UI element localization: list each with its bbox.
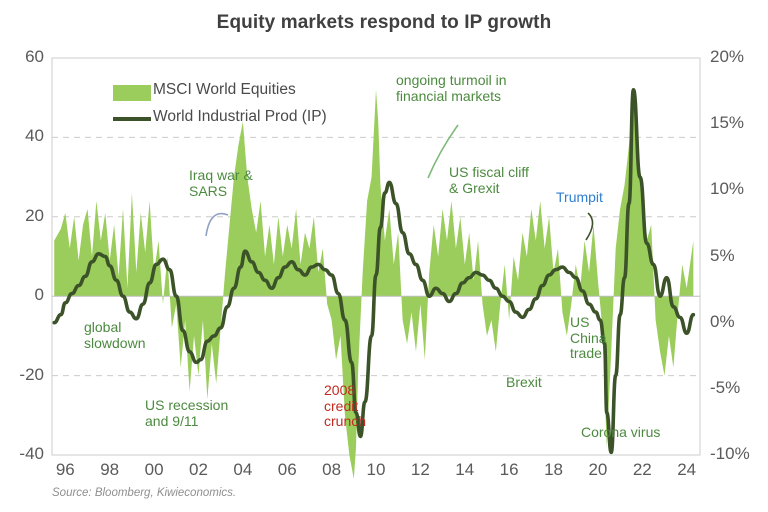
- y-axis-left-tick: -40: [0, 444, 44, 464]
- annotation-line: US: [570, 315, 607, 331]
- x-axis-tick: 02: [178, 460, 218, 480]
- annotation-line: US recession: [145, 398, 228, 414]
- annotation-line: crunch: [324, 414, 366, 430]
- annotation-line: & Grexit: [449, 181, 529, 197]
- chart-source-note: Source: Bloomberg, Kiwieconomics.: [52, 487, 236, 499]
- annotation-us-china-trade: USChinatrade: [570, 315, 607, 362]
- annotation-line: US fiscal cliff: [449, 165, 529, 181]
- legend-line-swatch-icon: [113, 117, 151, 121]
- x-axis-tick: 20: [578, 460, 618, 480]
- x-axis-tick: 98: [90, 460, 130, 480]
- legend-area-swatch-icon: [113, 85, 151, 101]
- x-axis-tick: 24: [667, 460, 707, 480]
- annotation-line: SARS: [189, 184, 253, 200]
- y-axis-left-tick: -20: [0, 365, 44, 385]
- annotation-iraq-war-sars: Iraq war &SARS: [189, 168, 253, 199]
- legend-item-label: World Industrial Prod (IP): [153, 108, 327, 126]
- annotation-line: Brexit: [506, 375, 542, 391]
- annotation-us-fiscal-cliff-grexit: US fiscal cliff& Grexit: [449, 165, 529, 196]
- annotation-line: Trumpit: [556, 190, 603, 206]
- y-axis-right-tick: -5%: [710, 378, 768, 398]
- x-axis-tick: 06: [267, 460, 307, 480]
- x-axis-tick: 12: [400, 460, 440, 480]
- annotation-line: Corona virus: [581, 425, 660, 441]
- y-axis-left-tick: 0: [0, 285, 44, 305]
- y-axis-left-tick: 20: [0, 206, 44, 226]
- annotation-line: credit: [324, 399, 366, 415]
- y-axis-left-tick: 40: [0, 126, 44, 146]
- x-axis-tick: 10: [356, 460, 396, 480]
- y-axis-right-tick: 0%: [710, 312, 768, 332]
- annotation-line: 2008: [324, 383, 366, 399]
- annotation-trumpit: Trumpit: [556, 190, 603, 206]
- y-axis-right-tick: 15%: [710, 113, 768, 133]
- y-axis-right-tick: 5%: [710, 246, 768, 266]
- annotation-line: ongoing turmoil in: [396, 73, 507, 89]
- annotation-global-slowdown: globalslowdown: [84, 320, 145, 351]
- annotation-ongoing-turmoil: ongoing turmoil infinancial markets: [396, 73, 507, 104]
- x-axis-tick: 14: [445, 460, 485, 480]
- annotation-line: slowdown: [84, 336, 145, 352]
- x-axis-tick: 04: [223, 460, 263, 480]
- x-axis-tick: 22: [622, 460, 662, 480]
- annotation-line: financial markets: [396, 89, 507, 105]
- legend-item-label: MSCI World Equities: [153, 81, 296, 99]
- x-axis-tick: 08: [312, 460, 352, 480]
- annotation-corona-virus: Corona virus: [581, 425, 660, 441]
- annotation-us-recession-911: US recessionand 9/11: [145, 398, 228, 429]
- annotation-line: trade: [570, 346, 607, 362]
- y-axis-right-tick: 10%: [710, 179, 768, 199]
- x-axis-tick: 00: [134, 460, 174, 480]
- annotation-line: global: [84, 320, 145, 336]
- chart-container: Equity markets respond to IP growth -40-…: [0, 0, 768, 512]
- trumpit-leader: [586, 213, 593, 240]
- annotation-brexit: Brexit: [506, 375, 542, 391]
- annotation-credit-crunch-2008: 2008creditcrunch: [324, 383, 366, 430]
- x-axis-tick: 18: [534, 460, 574, 480]
- y-axis-right-tick: 20%: [710, 47, 768, 67]
- chart-title: Equity markets respond to IP growth: [0, 12, 768, 34]
- x-axis-tick: 96: [45, 460, 85, 480]
- annotation-line: and 9/11: [145, 414, 228, 430]
- y-axis-left-tick: 60: [0, 47, 44, 67]
- x-axis-tick: 16: [489, 460, 529, 480]
- annotation-line: China: [570, 331, 607, 347]
- y-axis-right-tick: -10%: [710, 444, 768, 464]
- annotation-line: Iraq war &: [189, 168, 253, 184]
